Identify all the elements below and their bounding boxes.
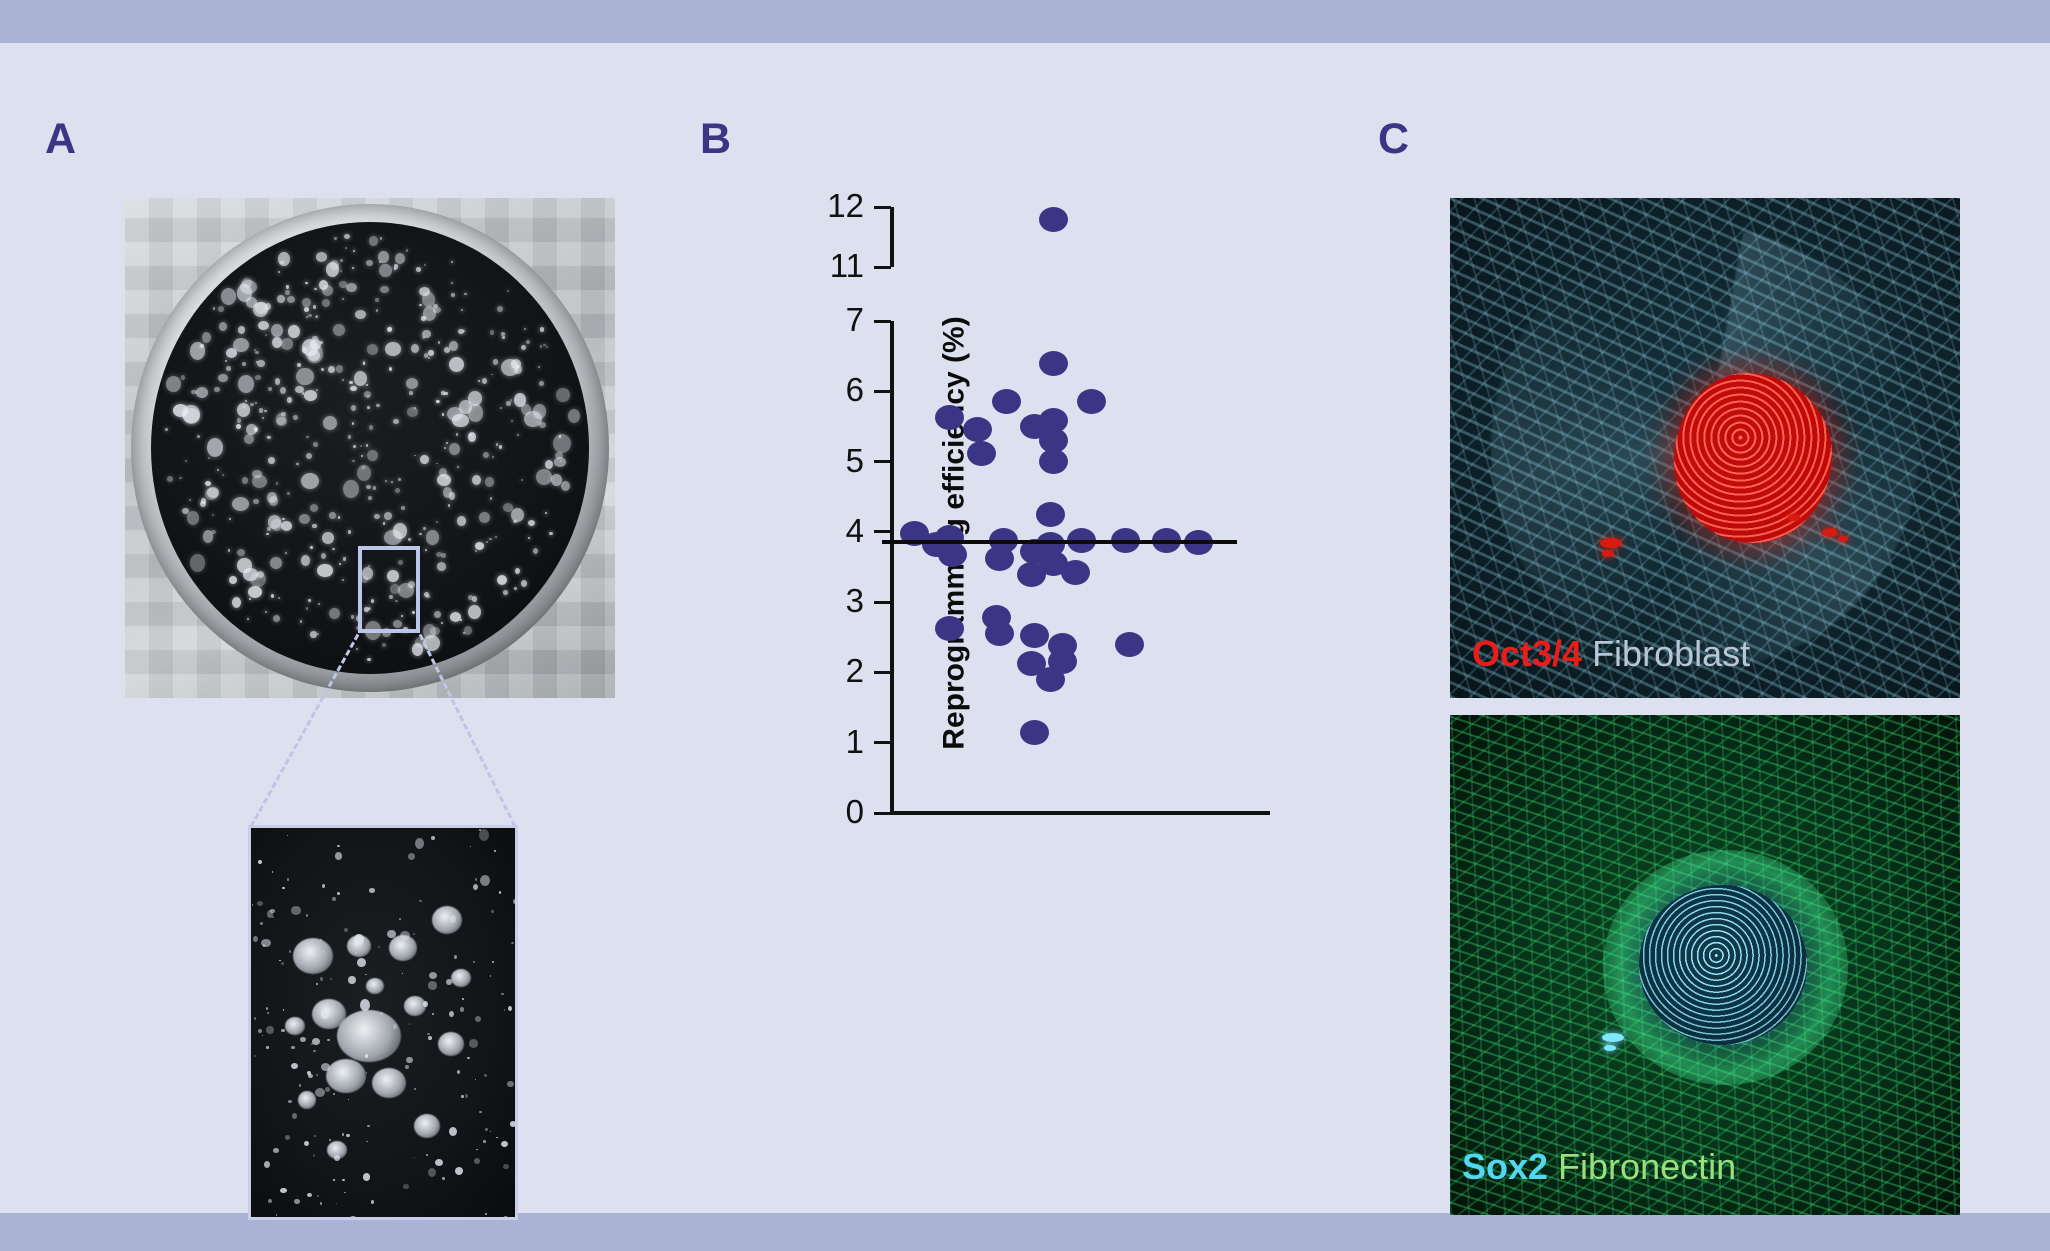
magnified-speck [306,914,308,916]
colony-spot [190,554,206,572]
magnified-speck [292,1113,297,1119]
colony-spot [302,392,304,394]
colony-spot [344,234,350,239]
colony-spot [457,466,459,468]
y-tick-label-12: 12 [804,189,864,222]
colony-spot [493,359,498,364]
magnified-speck [333,1179,335,1181]
colony-spot [437,562,446,571]
colony-spot [369,425,373,430]
oct34-fibroblast-immunofluorescence [1450,198,1960,698]
colony-spot [353,445,356,449]
colony-spot [340,270,342,272]
colony-spot [553,434,571,453]
colony-spot [483,452,489,459]
colony-spot [318,603,320,605]
data-point [1061,560,1090,585]
y-axis-upper-spine [890,207,894,267]
colony-spot [451,282,453,285]
y-tick-11 [874,266,891,269]
colony-spot [446,442,449,444]
colony-spot [281,338,293,350]
colony-spot [383,522,385,524]
colony-spot [214,387,219,392]
magnified-speck [316,1074,318,1076]
colony-spot [401,506,406,510]
colony-spot [524,328,526,330]
x-axis-baseline [890,811,1270,815]
colony-spot [249,598,251,600]
colony-spot [272,337,282,348]
colony-spot [271,324,283,337]
colony-spot [296,463,298,465]
colony-spot [276,482,278,485]
data-point [1039,449,1068,474]
colony-spot [448,504,450,506]
y-tick-12 [874,206,891,209]
colony-spot [330,260,339,270]
colony-spot [517,434,519,436]
data-point [967,441,996,466]
colony-spot [485,477,494,487]
magnified-speck [510,1121,517,1127]
magnified-speck [282,887,284,889]
colony-spot [361,455,363,457]
colony-spot [287,397,292,402]
y-tick-label-11: 11 [804,249,864,282]
colony-spot [551,474,562,485]
colony-spot [546,346,548,348]
magnified-colony [285,1017,305,1035]
caption-segment-1: Fibronectin [1548,1146,1736,1187]
magnified-speck [428,1168,436,1177]
colony-spot [495,536,498,538]
colony-spot [513,520,517,524]
magnified-speck [308,1074,312,1078]
colony-spot [207,438,223,457]
colony-spot [521,580,528,587]
magnified-speck [313,1050,316,1053]
colony-spot [380,286,388,293]
magnified-speck [321,1063,331,1071]
data-point [1077,389,1106,414]
colony-spot [556,388,569,402]
y-tick-label-2: 2 [804,654,864,687]
colony-spot [265,611,267,613]
colony-spot [301,473,319,489]
colony-spot [340,259,344,262]
colony-spot [545,460,553,469]
colony-spot [259,408,263,412]
colony-spot [308,350,320,361]
colony-spot [394,268,396,270]
colony-spot [346,283,357,292]
colony-spot [300,620,303,622]
colony-spot [253,302,267,317]
colony-spot [540,327,544,331]
magnified-speck [475,878,477,880]
colony-spot [395,253,405,263]
magnified-speck [465,1094,468,1098]
colony-spot [468,391,481,406]
colony-spot [393,419,399,424]
colony-spot [287,296,296,303]
magnified-speck [304,1141,309,1147]
colony-spot [369,236,378,246]
y-tick-1 [874,741,891,744]
colony-spot [179,477,181,479]
colony-spot [366,444,369,447]
colony-spot [373,486,377,491]
magnified-speck [348,976,355,984]
colony-spot [500,407,502,409]
data-point [1039,351,1068,376]
magnified-speck [281,962,284,965]
colony-spot [468,605,481,620]
y-tick-2 [874,671,891,674]
colony-spot [229,576,237,583]
oct34-fleck [1788,514,1800,521]
colony-spot [389,367,392,371]
colony-spot [240,280,257,294]
y-tick-label-7: 7 [804,303,864,336]
colony-spot [460,619,462,621]
top-band [0,0,2050,43]
colony-spot [376,309,379,312]
colony-spot [301,555,311,566]
magnified-speck [449,1127,457,1136]
magnified-speck [419,900,421,903]
colony-spot [242,477,249,484]
colony-spot [433,307,441,313]
colony-spot [568,409,580,423]
magnified-colony [451,969,471,987]
colony-spot [367,395,369,397]
colony-spot [299,514,310,524]
colony-spot [524,411,542,428]
colony-spot [355,310,366,319]
sox2-fleck [1602,1033,1624,1042]
colony-spot [451,293,456,297]
magnified-colony [414,1114,440,1138]
colony-spot [310,631,317,637]
magnified-speck [280,1188,287,1193]
colony-spot [322,285,333,296]
colony-spot [226,366,232,371]
colony-spot [238,326,246,335]
colony-spot [424,353,428,357]
colony-spot [281,521,292,531]
colony-spot [323,416,337,430]
sox2-fleck [1604,1045,1616,1051]
magnified-speck [483,1140,486,1143]
colony-spot [302,298,311,307]
colony-spot [449,357,464,372]
colony-spot [549,532,553,535]
colony-spot [262,417,264,419]
colony-spot [167,476,173,481]
colony-spot [310,546,313,549]
magnified-speck [491,910,494,913]
magnified-speck [363,1173,371,1180]
colony-spot [321,368,324,372]
magnified-speck [461,1095,464,1098]
colony-spot [342,579,344,581]
colony-spot [468,595,473,600]
colony-spot [250,403,254,407]
colony-spot [342,379,344,381]
colony-spot [501,359,519,376]
data-point [1115,632,1144,657]
panel-label-c: C [1378,118,1409,161]
colony-spot [464,626,472,634]
magnified-speck [317,1195,319,1197]
panel-label-a: A [45,118,76,161]
colony-spot [437,400,440,403]
colony-spot [322,532,335,544]
magnified-speck [428,1036,432,1040]
colony-spot [380,237,383,240]
magnified-speck [311,1043,313,1045]
colony-spot [185,460,187,462]
colony-spot [232,497,249,511]
colony-spot [452,414,468,428]
colony-spot [348,530,351,533]
colony-spot [449,443,460,455]
colony-spot [342,298,344,300]
colony-spot [515,568,520,574]
colony-spot [273,615,280,622]
colony-spot [339,563,341,565]
colony-spot [528,520,536,527]
colony-spot [302,347,307,352]
colony-spot [491,374,493,376]
data-point [1036,667,1065,692]
magnified-speck [357,958,366,967]
magnified-speck [414,1088,416,1090]
colony-spot [449,492,455,500]
colony-spot [310,504,318,511]
magnified-colony [293,938,333,974]
colony-spot [338,516,341,519]
colony-spot [422,330,431,339]
magnified-speck [320,977,324,981]
colony-spot [475,550,477,552]
magnified-speck [366,1072,368,1074]
colony-spot [351,615,355,619]
colony-spot [308,314,312,318]
colony-spot [196,387,208,398]
colony-spot [367,406,370,409]
colony-spot [222,474,224,476]
colony-spot [278,271,280,273]
colony-spot [228,549,230,552]
colony-spot [414,455,416,457]
colony-spot [423,624,436,639]
colony-spot [398,478,401,481]
colony-spot [277,295,285,303]
colony-spot [278,252,289,266]
oct34-fleck [1822,528,1838,537]
colony-spot [367,658,372,662]
colony-spot [304,307,310,312]
colony-spot [313,442,318,447]
magnified-speck [355,952,357,953]
colony-spot [526,340,531,345]
magnified-colony [298,1091,316,1109]
colony-spot [423,527,426,530]
colony-spot [229,518,231,520]
magnified-speck [257,901,263,906]
colony-spot [317,564,332,577]
magnified-speck [429,972,437,979]
magnified-speck [405,1065,410,1069]
y-tick-label-0: 0 [804,795,864,828]
magnified-speck [449,1011,454,1017]
magnified-colony [438,1032,464,1056]
magnified-speck [285,1135,290,1139]
magnified-speck [261,939,271,947]
magnified-speck [473,961,475,963]
colony-spot [561,481,571,491]
colony-spot [496,443,499,445]
colony-spot [328,366,335,373]
colony-spot [352,267,354,269]
colony-spot [438,341,441,344]
magnified-speck [344,928,348,933]
colony-spot [367,450,378,462]
colony-spot [197,435,200,438]
magnified-speck [469,1039,478,1048]
colony-spot [202,332,211,343]
colony-spot [482,378,487,384]
colony-spot [506,401,511,406]
colony-spot [243,568,258,580]
colony-spot [514,393,527,407]
colony-spot [379,264,391,277]
colony-spot [336,365,343,372]
colony-spot [221,288,236,304]
colony-spot [555,452,563,459]
magnified-speck [380,1012,383,1014]
colony-spot [189,499,191,501]
colony-spot [275,378,281,385]
data-point [1036,502,1065,527]
colony-spot [217,469,219,471]
colony-spot [280,387,286,394]
colony-spot [385,342,401,356]
colony-spot [352,422,354,425]
magnified-speck [329,1139,331,1141]
colony-spot [187,511,199,524]
colony-spot [313,305,316,309]
magnified-speck [462,998,464,1000]
figure-root: A B C Reprogramming efficiency (%) 12117… [0,0,2050,1251]
data-point [1017,562,1046,587]
colony-spot [356,648,358,650]
colony-spot [521,479,523,481]
colony-spot [244,434,254,444]
colony-spot [183,408,201,425]
colony-spot [436,521,438,523]
y-tick-label-1: 1 [804,725,864,758]
colony-spot [201,498,206,504]
magnified-speck [480,875,490,886]
colony-spot [306,436,309,438]
colony-spot [391,481,393,483]
colony-spot [376,404,380,407]
colony-spot [521,345,526,350]
colony-spot [489,538,492,540]
colony-spot [536,469,552,485]
colony-spot [213,307,215,309]
colony-spot [329,608,339,619]
y-tick-5 [874,460,891,463]
colony-spot [226,348,237,358]
colony-spot [428,350,435,355]
magnified-speck [403,1184,408,1188]
magnified-speck [399,918,401,920]
colony-spot [305,282,307,284]
colony-spot [478,380,480,382]
colony-spot [366,485,371,489]
caption-segment-0: Oct3/4 [1472,633,1582,674]
colony-spot [208,457,210,459]
magnified-speck [270,909,274,913]
colony-spot [308,599,310,602]
colony-spot [497,306,503,312]
magnified-speck [266,1046,269,1049]
magnified-speck [253,936,258,942]
colony-spot [287,492,290,495]
magnified-speck [316,983,318,985]
colony-spot [502,336,504,338]
data-point [992,389,1021,414]
colony-spot [267,436,270,439]
colony-spot [528,537,530,539]
colony-spot [451,261,453,263]
colony-spot [426,530,438,545]
colony-spot [348,435,352,439]
magnified-speck [307,1193,312,1198]
colony-spot [449,341,458,352]
colony-spot [258,321,269,330]
magnified-speck [494,850,496,852]
colony-spot [268,387,272,391]
colony-spot [345,247,347,249]
colony-spot [426,595,430,599]
colony-spot [351,405,357,411]
magnified-speck [268,1199,272,1203]
caption-segment-1: Fibroblast [1582,633,1750,674]
colony-spot [424,264,426,266]
colony-spot [165,428,167,431]
colony-spot [314,288,316,290]
colony-spot [329,512,335,519]
colony-spot [503,503,513,512]
colony-spot [253,499,258,504]
caption-segment-0: Sox2 [1462,1146,1548,1187]
magnified-speck [320,939,322,941]
magnified-speck [320,1202,322,1204]
y-tick-label-4: 4 [804,514,864,547]
colony-spot [271,594,274,598]
magnified-speck [503,1216,507,1220]
colony-spot [166,376,181,392]
colony-spot [472,475,481,485]
colony-spot [406,249,408,251]
y-tick-label-5: 5 [804,444,864,477]
